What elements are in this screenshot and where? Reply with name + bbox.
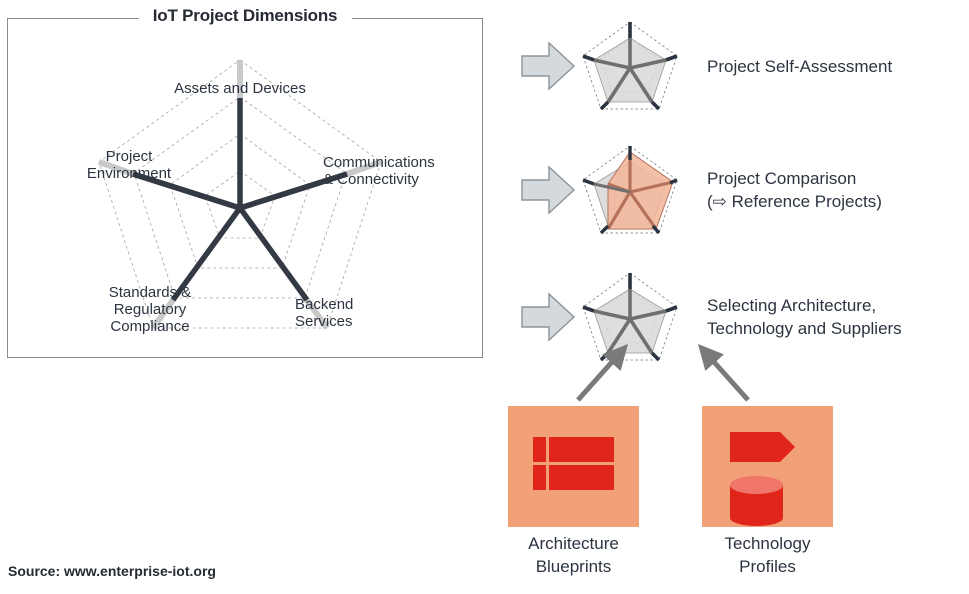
mini-radar-project-comparison bbox=[578, 140, 683, 240]
block-arrow-right-icon bbox=[518, 288, 578, 346]
technology-profiles-tile bbox=[702, 406, 833, 527]
footer-source-text: Source: www.enterprise-iot.org bbox=[8, 563, 216, 579]
source-caption-architecture-blueprints: Architecture Blueprints bbox=[508, 532, 639, 578]
radar-label-assets-and-devices: Assets and Devices bbox=[157, 80, 323, 97]
database-cylinder-icon bbox=[730, 476, 783, 526]
mini-radar-self-assessment bbox=[578, 16, 683, 116]
blueprint-icon bbox=[508, 406, 639, 527]
flow-row-architecture-selection: Selecting Architecture, Technology and S… bbox=[518, 267, 902, 367]
radar-label-standards: Standards & Regulatory Compliance bbox=[90, 284, 210, 335]
source-caption-technology-profiles: Technology Profiles bbox=[702, 532, 833, 578]
radar-series-project-profile bbox=[133, 98, 347, 300]
flow-label-project-comparison: Project Comparison (⇨ Reference Projects… bbox=[707, 167, 882, 213]
source-architecture-blueprints[interactable]: Architecture Blueprints bbox=[508, 406, 639, 578]
mini-radar-architecture-selection bbox=[578, 267, 683, 367]
block-arrow-right-icon bbox=[518, 161, 578, 219]
tag-shape-icon bbox=[730, 432, 795, 462]
radar-label-project-environment: Project Environment bbox=[67, 148, 191, 182]
source-technology-profiles[interactable]: Technology Profiles bbox=[702, 406, 833, 578]
flow-row-self-assessment: Project Self-Assessment bbox=[518, 16, 892, 116]
main-radar-chart bbox=[7, 18, 483, 358]
architecture-blueprints-tile bbox=[508, 406, 639, 527]
flow-label-self-assessment: Project Self-Assessment bbox=[707, 55, 892, 78]
flow-row-project-comparison: Project Comparison (⇨ Reference Projects… bbox=[518, 140, 882, 240]
iot-dimensions-panel: IoT Project Dimensions bbox=[7, 18, 483, 358]
radar-label-backend-services: Backend Services bbox=[295, 296, 395, 330]
radar-label-communications: Communications & Connectivity bbox=[323, 154, 469, 188]
technology-icon bbox=[702, 406, 833, 527]
flow-label-architecture-selection: Selecting Architecture, Technology and S… bbox=[707, 294, 902, 340]
block-arrow-right-icon bbox=[518, 37, 578, 95]
